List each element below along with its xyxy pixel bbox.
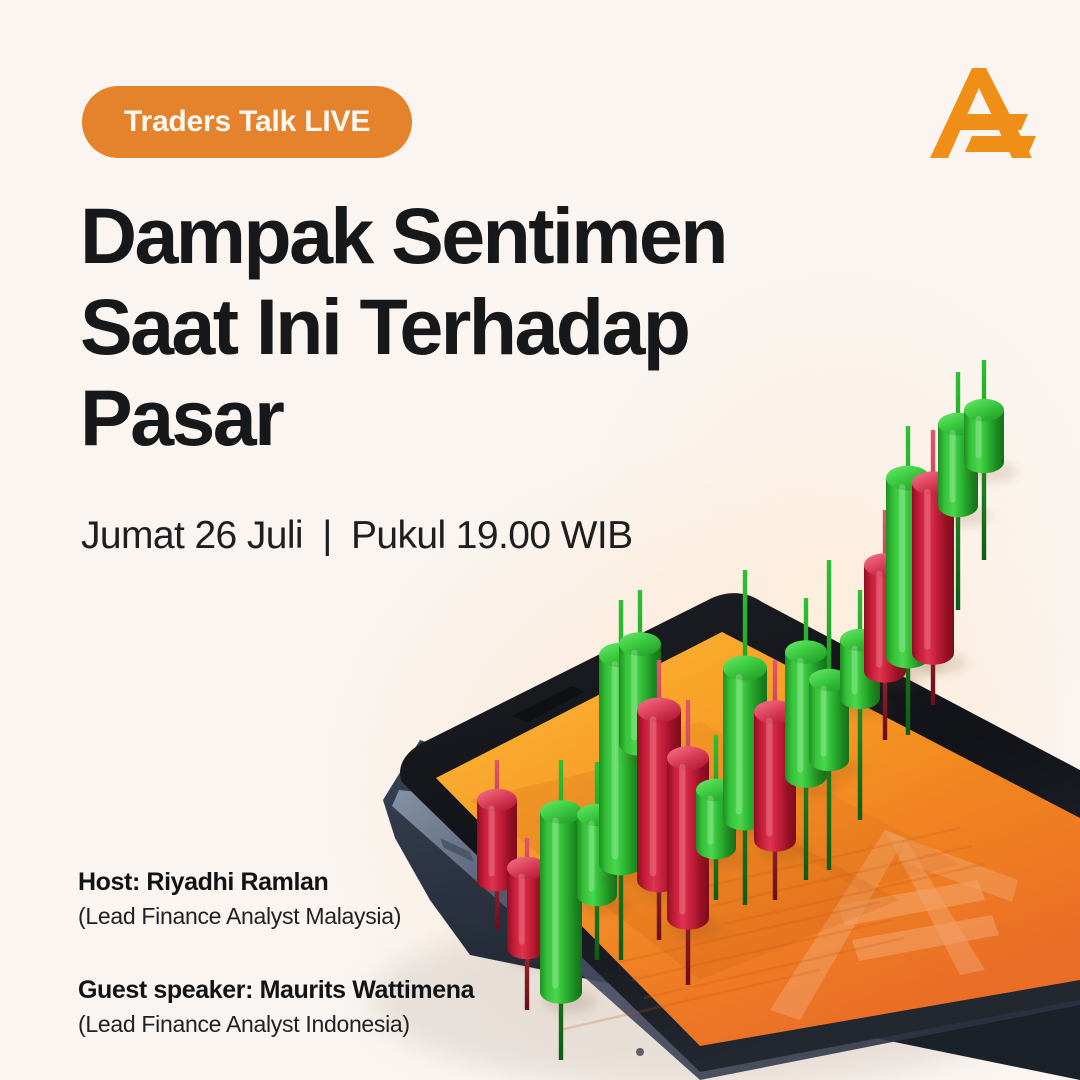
candle-2-down	[507, 838, 560, 1010]
candle-13-up	[809, 560, 862, 870]
candle-top-cap	[637, 698, 681, 723]
candle-highlight	[631, 650, 637, 741]
candle-body	[540, 812, 582, 1004]
event-date: Jumat 26 Juli	[81, 514, 303, 557]
candle-top-cap	[964, 399, 1004, 421]
phone-volume-button	[440, 838, 474, 862]
candle-body	[619, 644, 661, 756]
candle-highlight	[519, 874, 525, 945]
candle-shadow	[670, 917, 723, 938]
candle-wick	[559, 760, 563, 1060]
headline-line-2: Saat Ini Terhadap	[80, 287, 840, 366]
host-role: (Lead Finance Analyst Malaysia)	[78, 902, 474, 932]
candle-wick	[619, 600, 623, 960]
candle-shadow	[788, 775, 841, 796]
candle-wick	[638, 590, 642, 860]
candle-11-down	[754, 660, 809, 900]
candle-highlight	[852, 646, 858, 695]
candle-shadow	[543, 991, 596, 1012]
candle-top-cap	[477, 789, 517, 811]
candle-shadow	[699, 848, 749, 868]
candle-17-down	[912, 430, 967, 705]
candle-top-cap	[864, 553, 906, 577]
candle-10-up	[723, 570, 781, 905]
candle-highlight	[821, 686, 827, 757]
candle-highlight	[708, 796, 714, 845]
candle-top-cap	[840, 629, 880, 651]
candle-body	[696, 790, 736, 859]
candle-3-up	[540, 760, 595, 1060]
page-title: Dampak Sentimen Saat Ini Terhadap Pasar	[80, 196, 840, 469]
candle-top-cap	[938, 413, 978, 435]
candle-body	[723, 668, 767, 830]
candle-4-up	[577, 762, 630, 960]
candle-1-down	[477, 760, 530, 930]
candle-highlight	[797, 658, 803, 773]
candle-wick	[595, 762, 599, 960]
ajaib-a-logo	[924, 58, 1044, 168]
poster-canvas: Traders Talk LIVE Dampak Sentimen Saat I…	[0, 0, 1080, 1080]
candle-highlight	[679, 764, 685, 915]
candle-top-cap	[886, 466, 930, 491]
candle-shadow	[889, 655, 944, 677]
candle-top-cap	[619, 632, 661, 656]
candle-body	[507, 868, 547, 959]
candle-wick	[525, 838, 529, 1010]
candle-top-cap	[577, 804, 617, 826]
screen-logo-watermark	[770, 830, 1018, 1020]
candle-highlight	[736, 674, 743, 814]
live-badge[interactable]: Traders Talk LIVE	[82, 86, 412, 158]
candle-highlight	[589, 821, 595, 892]
candle-wick	[743, 570, 747, 905]
candle-body	[637, 710, 681, 892]
candle-8-down	[667, 700, 722, 985]
candle-wick	[956, 372, 960, 610]
candle-body	[809, 680, 849, 771]
candle-12-up	[785, 598, 840, 880]
headline-line-1: Dampak Sentimen	[80, 196, 840, 275]
candle-top-cap	[599, 643, 643, 668]
phone-notch	[512, 686, 585, 722]
candle-18-up	[938, 372, 991, 610]
candle-highlight	[976, 416, 982, 459]
speaker-host: Host: Riyadhi Ramlan (Lead Finance Analy…	[78, 866, 474, 932]
event-time: Pukul 19.00 WIB	[351, 514, 632, 557]
candle-shadow	[622, 743, 675, 764]
candle-highlight	[766, 718, 772, 837]
candle-shadow	[843, 698, 893, 718]
candle-top-cap	[785, 640, 827, 664]
candle-wick	[906, 426, 910, 735]
candle-top-cap	[540, 800, 582, 824]
candle-body	[785, 652, 827, 788]
host-name: Host: Riyadhi Ramlan	[78, 866, 474, 898]
candle-body	[477, 800, 517, 891]
candle-6-up	[619, 590, 674, 860]
candle-highlight	[899, 484, 906, 652]
candle-top-cap	[507, 857, 547, 879]
candle-highlight	[612, 661, 619, 859]
candle-body	[754, 712, 796, 852]
candle-wick	[827, 560, 831, 870]
candle-shadow	[580, 895, 630, 915]
candle-highlight	[489, 806, 495, 877]
candle-highlight	[924, 489, 930, 650]
candle-body	[864, 565, 906, 683]
candle-top-cap	[912, 471, 954, 495]
phone-screen	[436, 632, 1080, 1046]
candle-shadow	[757, 839, 810, 860]
candle-15-down	[864, 510, 919, 740]
candle-shadow	[640, 879, 695, 901]
candle-top-cap	[696, 779, 736, 801]
headline-line-3: Pasar	[80, 378, 840, 457]
candle-14-up	[840, 590, 893, 820]
candle-wick	[686, 700, 690, 985]
candle-top-cap	[754, 700, 796, 724]
candle-shadow	[480, 880, 530, 900]
candle-wick	[495, 760, 499, 930]
candle-highlight	[950, 430, 956, 503]
candle-body	[599, 655, 643, 875]
candle-body	[840, 640, 880, 709]
candle-highlight	[650, 716, 657, 876]
candle-16-up	[886, 426, 944, 735]
candle-wick	[858, 590, 862, 820]
candle-body	[912, 483, 954, 665]
smartphone-device	[383, 593, 1080, 1080]
candle-body	[667, 758, 709, 930]
candle-top-cap	[809, 669, 849, 691]
speaker-list: Host: Riyadhi Ramlan (Lead Finance Analy…	[78, 866, 474, 1040]
candle-body	[964, 410, 1004, 473]
phone-speaker-dot	[636, 1048, 644, 1056]
candle-shadow	[867, 670, 920, 691]
candle-highlight	[876, 571, 882, 668]
candle-7-down	[637, 660, 695, 940]
guest-name: Guest speaker: Maurits Wattimena	[78, 974, 474, 1006]
candle-wick	[714, 735, 718, 900]
schedule-separator: |	[313, 514, 341, 557]
candle-body	[886, 478, 930, 668]
candle-shadow	[967, 462, 1017, 482]
candle-wick	[804, 598, 808, 880]
candle-shadow	[915, 652, 968, 673]
candle-wick	[883, 510, 887, 740]
candle-19-up	[964, 360, 1017, 560]
event-schedule: Jumat 26 Juli | Pukul 19.00 WIB	[81, 514, 633, 558]
candle-highlight	[552, 818, 558, 989]
candle-top-cap	[723, 656, 767, 681]
candle-shadow	[941, 506, 991, 526]
candle-wick	[982, 360, 986, 560]
candle-5-up	[599, 600, 657, 960]
candle-shadow	[812, 760, 862, 780]
candle-9-up	[696, 735, 749, 900]
candle-shadow	[726, 817, 781, 839]
candle-top-cap	[667, 746, 709, 770]
speaker-guest: Guest speaker: Maurits Wattimena (Lead F…	[78, 974, 474, 1040]
candle-shadow	[510, 948, 560, 968]
guest-role: (Lead Finance Analyst Indonesia)	[78, 1010, 474, 1040]
candle-body	[938, 424, 978, 517]
candle-wick	[773, 660, 777, 900]
candle-shadow	[602, 862, 657, 884]
candle-body	[577, 815, 617, 906]
candle-wick	[931, 430, 935, 705]
candle-wick	[657, 660, 661, 940]
